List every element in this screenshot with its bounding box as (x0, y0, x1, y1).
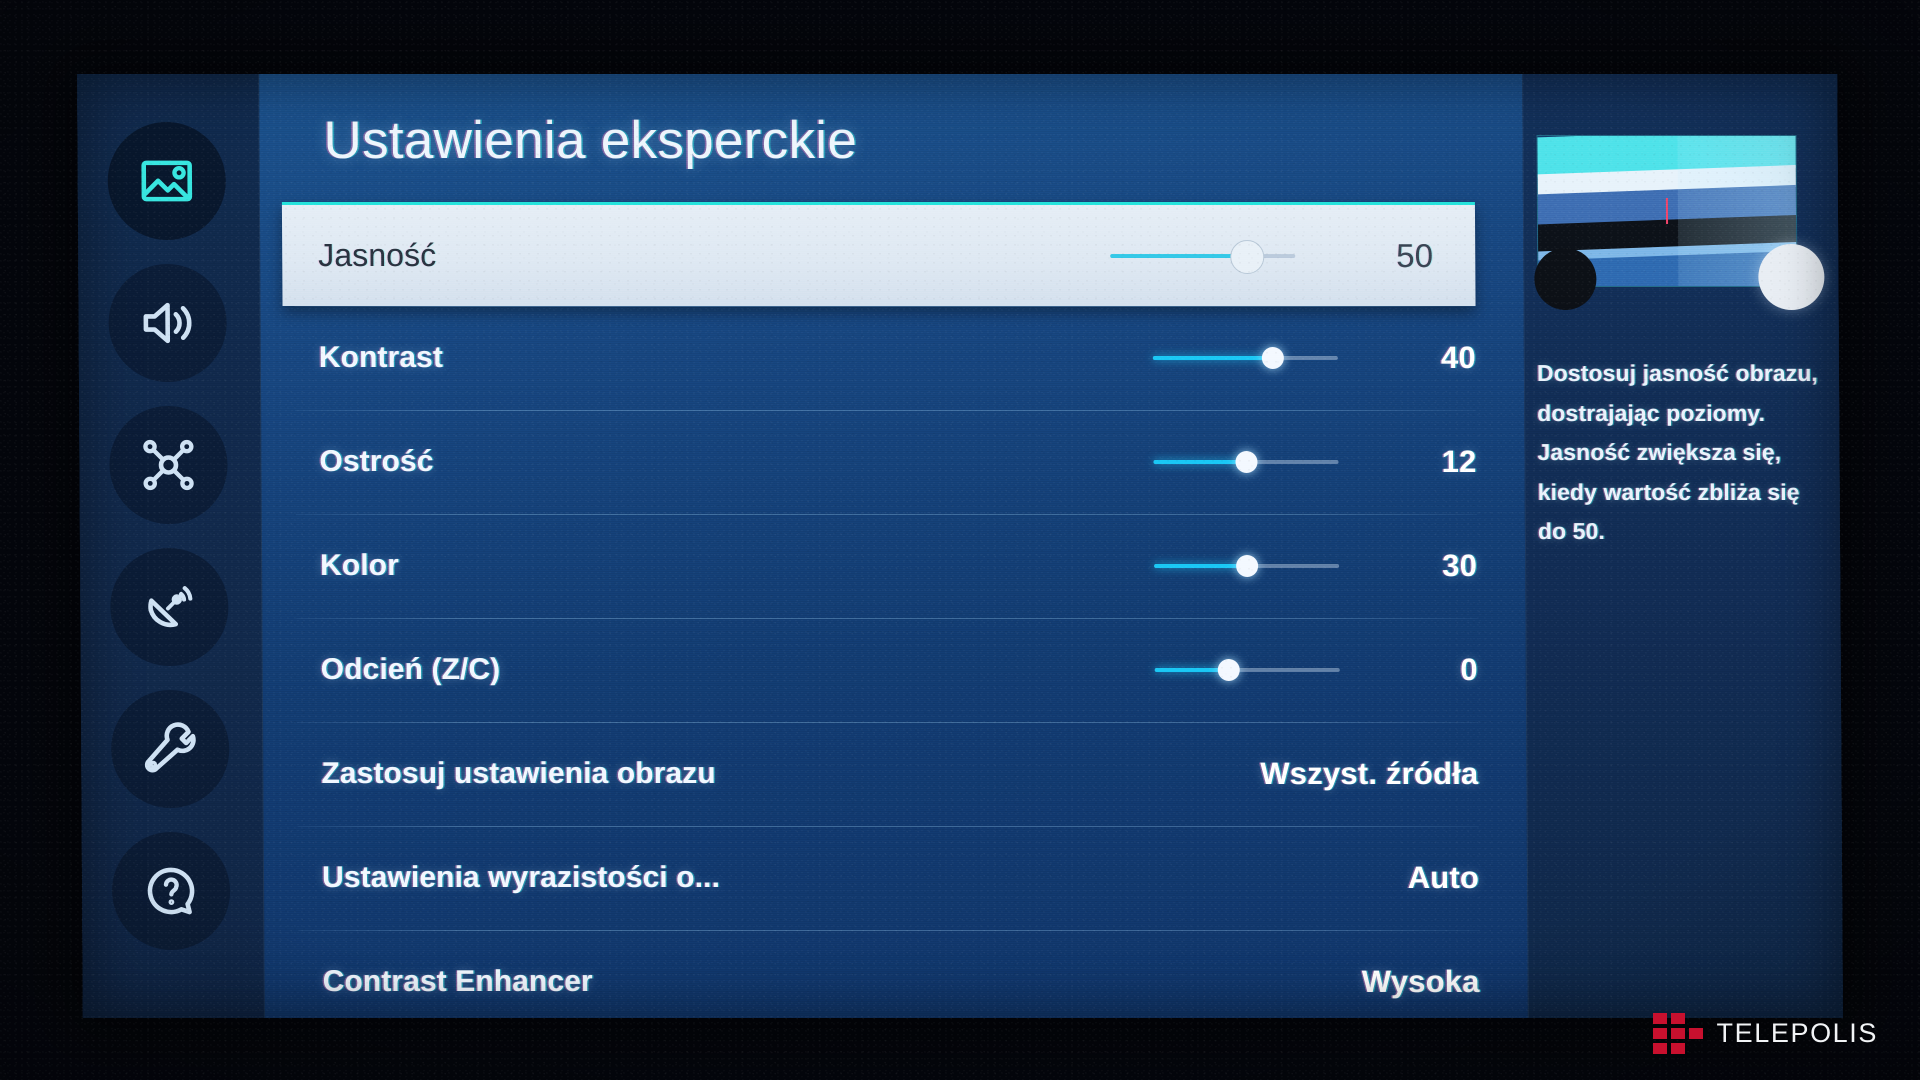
preview-light-sphere (1758, 244, 1824, 310)
row-divider (295, 306, 1476, 307)
setting-label: Odcień (Z/C) (321, 653, 501, 687)
setting-value: 40 (1366, 340, 1476, 376)
row-divider (296, 618, 1477, 619)
setting-value: 12 (1366, 444, 1476, 480)
slider-knob[interactable] (1218, 659, 1240, 681)
settings-list: Jasność 50 Kontrast (260, 202, 1528, 1018)
setting-label: Contrast Enhancer (323, 965, 593, 999)
logo-cell (1653, 1028, 1667, 1039)
slider-fill (1154, 564, 1247, 568)
logo-cell (1689, 1013, 1703, 1024)
sidebar-item-network[interactable] (109, 406, 228, 524)
logo-cell (1671, 1013, 1685, 1024)
picture-icon (138, 152, 196, 210)
setting-row-jasnosc[interactable]: Jasność 50 (282, 202, 1476, 306)
preview-marker-icon (1666, 198, 1668, 224)
setting-row-ostrosc[interactable]: Ostrość 12 (261, 410, 1525, 514)
sidebar-item-broadcast[interactable] (110, 548, 229, 666)
row-divider (297, 722, 1478, 723)
sidebar-item-support[interactable] (112, 832, 231, 950)
logo-cell (1671, 1028, 1685, 1039)
logo-cell (1689, 1028, 1703, 1039)
watermark-text: TELEPOLIS (1717, 1018, 1878, 1049)
help-question-icon (142, 862, 200, 920)
setting-label: Ustawienia wyrazistości o... (322, 861, 720, 895)
slider-fill (1153, 356, 1273, 360)
setting-value: Wysoka (1230, 964, 1480, 1000)
setting-value: Wszyst. źródła (1228, 756, 1478, 792)
row-divider (298, 826, 1479, 827)
row-divider (296, 514, 1477, 515)
sidebar-item-picture[interactable] (107, 122, 226, 240)
sidebar-item-sound[interactable] (108, 264, 227, 382)
setting-row-odcien[interactable]: Odcień (Z/C) 0 (262, 618, 1526, 722)
network-icon (139, 436, 197, 494)
wrench-icon (141, 720, 199, 778)
setting-row-ustawienia-wyrazistosci[interactable]: Ustawienia wyrazistości o... Auto (264, 826, 1528, 930)
setting-value: 30 (1367, 548, 1477, 584)
brightness-preview (1534, 136, 1830, 332)
help-pane: Dostosuj jasność obrazu, dostrajając poz… (1522, 74, 1843, 1018)
preview-dark-sphere (1534, 248, 1596, 310)
logo-cell (1653, 1013, 1667, 1024)
row-divider (295, 410, 1476, 411)
slider-knob[interactable] (1262, 347, 1284, 369)
setting-row-kolor[interactable]: Kolor 30 (262, 514, 1526, 618)
contrast-slider[interactable] (1153, 343, 1338, 373)
setting-label: Kontrast (319, 341, 443, 375)
speaker-icon (138, 294, 196, 352)
setting-value: 50 (1323, 237, 1433, 275)
slider-knob[interactable] (1230, 240, 1264, 274)
brightness-slider[interactable] (1110, 241, 1295, 271)
tv-screen-photograph: Ustawienia eksperckie Jasność 50 Kontras… (0, 0, 1920, 1080)
sidebar-item-general[interactable] (111, 690, 230, 808)
sharpness-slider[interactable] (1153, 447, 1338, 477)
satellite-dish-icon (140, 578, 198, 636)
tv-osd-screen: Ustawienia eksperckie Jasność 50 Kontras… (77, 74, 1843, 1018)
expert-settings-pane: Ustawienia eksperckie Jasność 50 Kontras… (259, 74, 1528, 1018)
setting-row-kontrast[interactable]: Kontrast 40 (261, 306, 1525, 410)
row-divider (298, 930, 1479, 931)
telepolis-watermark: TELEPOLIS (1653, 1013, 1878, 1054)
setting-label: Zastosuj ustawienia obrazu (321, 757, 716, 791)
logo-cell (1689, 1043, 1703, 1054)
setting-label: Ostrość (319, 445, 433, 479)
slider-fill (1110, 254, 1247, 258)
help-description: Dostosuj jasność obrazu, dostrajając poz… (1537, 354, 1828, 552)
setting-value: 0 (1368, 652, 1478, 688)
page-title: Ustawienia eksperckie (323, 110, 857, 171)
slider-knob[interactable] (1235, 451, 1257, 473)
slider-fill (1153, 460, 1246, 464)
settings-sidebar (77, 74, 265, 1018)
logo-cell (1671, 1043, 1685, 1054)
setting-label: Jasność (318, 237, 436, 274)
telepolis-logo-icon (1653, 1013, 1703, 1054)
setting-row-zastosuj-ustawienia-obrazu[interactable]: Zastosuj ustawienia obrazu Wszyst. źródł… (263, 722, 1527, 826)
tint-slider[interactable] (1155, 655, 1340, 685)
slider-knob[interactable] (1236, 555, 1258, 577)
color-slider[interactable] (1154, 551, 1339, 581)
setting-value: Auto (1229, 860, 1479, 896)
setting-row-contrast-enhancer[interactable]: Contrast Enhancer Wysoka (264, 930, 1528, 1018)
setting-label: Kolor (320, 549, 399, 583)
logo-cell (1653, 1043, 1667, 1054)
